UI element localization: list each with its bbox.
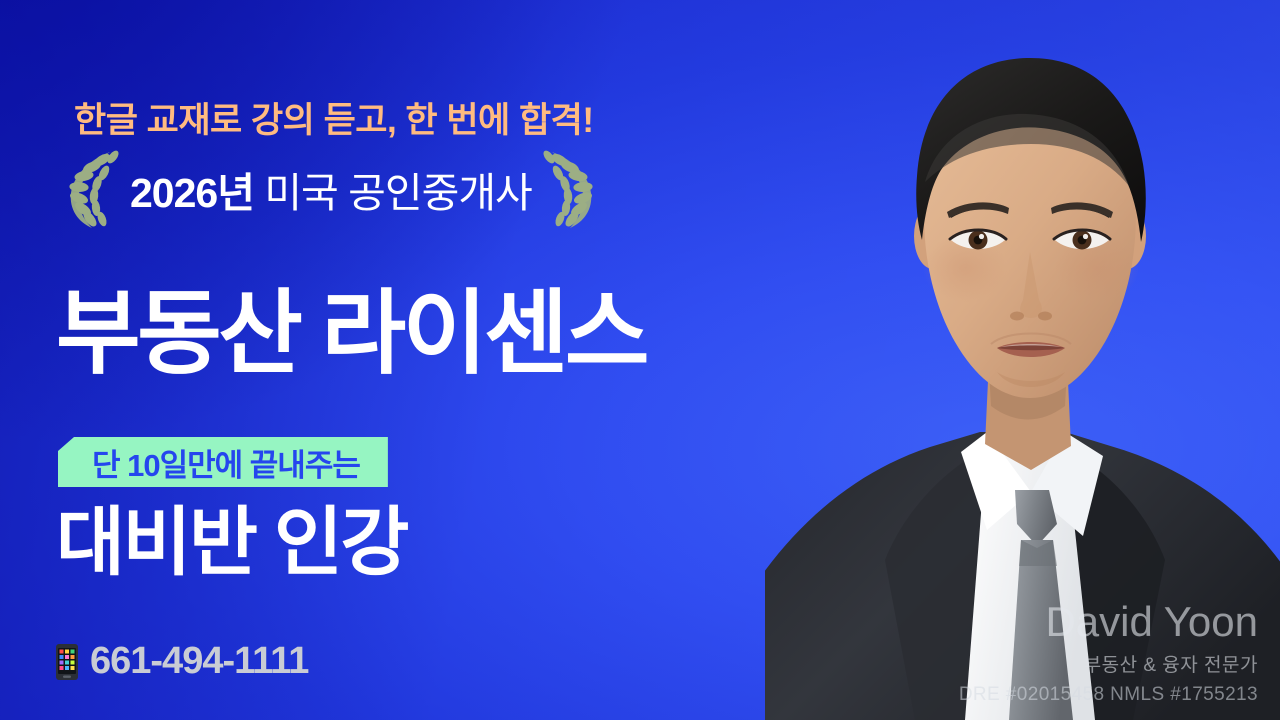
agent-credit-block: David Yoon 부동산 & 융자 전문가 DRE #02015458 NM…	[959, 600, 1258, 706]
agent-name: David Yoon	[959, 600, 1258, 644]
headline-text: 부동산 라이센스	[56, 288, 646, 380]
subheadline-text: 대비반 인강	[56, 505, 407, 580]
phone-contact[interactable]: 661-494-1111	[56, 640, 308, 683]
promo-banner: 한글 교재로 강의 듣고, 한 번에 합격!	[0, 0, 1280, 720]
award-line: 2026년 미국 공인중개사	[62, 146, 600, 232]
banner-copy: 한글 교재로 강의 듣고, 한 번에 합격!	[0, 0, 780, 720]
laurel-left-icon	[62, 146, 124, 232]
promo-badge-label: 단 10일만에 끝내주는	[92, 440, 360, 485]
laurel-right-icon	[538, 146, 600, 232]
kicker-text: 한글 교재로 강의 듣고, 한 번에 합격!	[74, 92, 594, 143]
award-year: 2026년	[130, 170, 254, 216]
agent-license-numbers: DRE #02015458 NMLS #1755213	[959, 684, 1258, 706]
phone-number: 661-494-1111	[90, 640, 308, 683]
award-title: 미국 공인중개사	[254, 170, 532, 216]
mobile-phone-icon	[56, 644, 78, 680]
agent-role: 부동산 & 융자 전문가	[959, 650, 1258, 677]
promo-badge: 단 10일만에 끝내주는	[58, 437, 388, 487]
award-text: 2026년 미국 공인중개사	[130, 159, 532, 219]
